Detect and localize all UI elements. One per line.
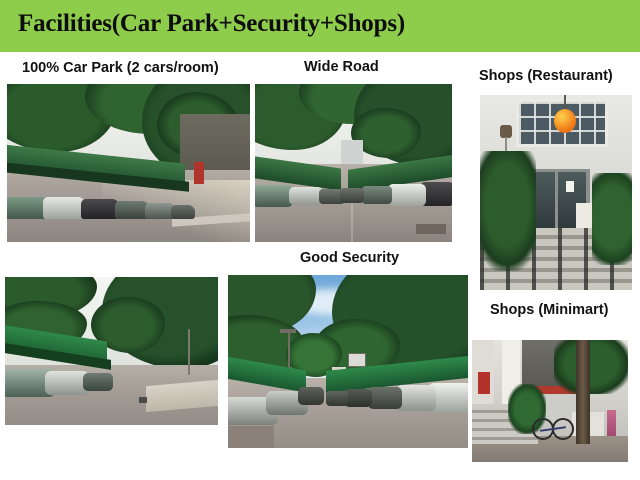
car xyxy=(326,391,348,406)
car xyxy=(388,184,426,206)
parked-cars-left xyxy=(255,177,345,209)
door-notice xyxy=(566,181,574,192)
page-title: Facilities(Car Park+Security+Shops) xyxy=(18,9,405,39)
palm-plant-left xyxy=(480,151,536,271)
kerb-block xyxy=(416,224,446,234)
parked-cars xyxy=(7,179,195,219)
car xyxy=(43,197,85,219)
parked-cars-right xyxy=(342,176,452,212)
photo-scene xyxy=(228,275,468,448)
orange-lantern xyxy=(554,109,576,133)
car xyxy=(255,185,293,207)
car xyxy=(396,385,436,411)
parked-cars xyxy=(5,359,119,401)
lamp-head xyxy=(280,329,296,333)
photo-scene xyxy=(7,84,250,242)
kerb xyxy=(228,426,274,448)
car-park-photo-bottom-left xyxy=(5,277,218,425)
caption-shops-minimart: Shops (Minimart) xyxy=(490,302,608,319)
parked-cars-right xyxy=(322,375,468,421)
car xyxy=(289,187,323,205)
post-box xyxy=(194,162,204,184)
car xyxy=(368,387,402,409)
security-sign xyxy=(348,353,366,367)
wide-road-photo xyxy=(255,84,452,242)
road-object xyxy=(139,397,147,403)
person xyxy=(607,410,616,436)
car xyxy=(344,389,372,407)
caption-wide-road: Wide Road xyxy=(304,59,379,76)
restaurant-photo xyxy=(480,95,632,290)
photo-scene xyxy=(480,95,632,290)
tree-foliage xyxy=(554,340,628,394)
distant-building xyxy=(341,140,363,166)
car xyxy=(171,205,195,219)
photo-scene xyxy=(5,277,218,425)
photo-scene xyxy=(255,84,452,242)
slide-canvas: Facilities(Car Park+Security+Shops) 100%… xyxy=(0,0,640,480)
minimart-photo xyxy=(472,340,628,462)
car xyxy=(340,188,364,203)
caption-good-security: Good Security xyxy=(300,250,399,267)
car xyxy=(81,199,119,219)
lamp-post xyxy=(188,329,190,375)
bicycle xyxy=(532,414,574,440)
red-signboard xyxy=(478,372,490,394)
parked-cars-left xyxy=(228,379,314,425)
palm-plant-right xyxy=(592,173,632,265)
title-banner: Facilities(Car Park+Security+Shops) xyxy=(0,0,640,52)
tree-trunk xyxy=(576,340,590,444)
car xyxy=(298,387,324,405)
car xyxy=(83,373,113,391)
car xyxy=(362,186,392,204)
photo-scene xyxy=(472,340,628,462)
car xyxy=(115,201,149,219)
caption-car-park: 100% Car Park (2 cars/room) xyxy=(22,60,219,77)
caption-shops-restaurant: Shops (Restaurant) xyxy=(479,68,613,85)
security-photo xyxy=(228,275,468,448)
car-park-photo-top-left xyxy=(7,84,250,242)
